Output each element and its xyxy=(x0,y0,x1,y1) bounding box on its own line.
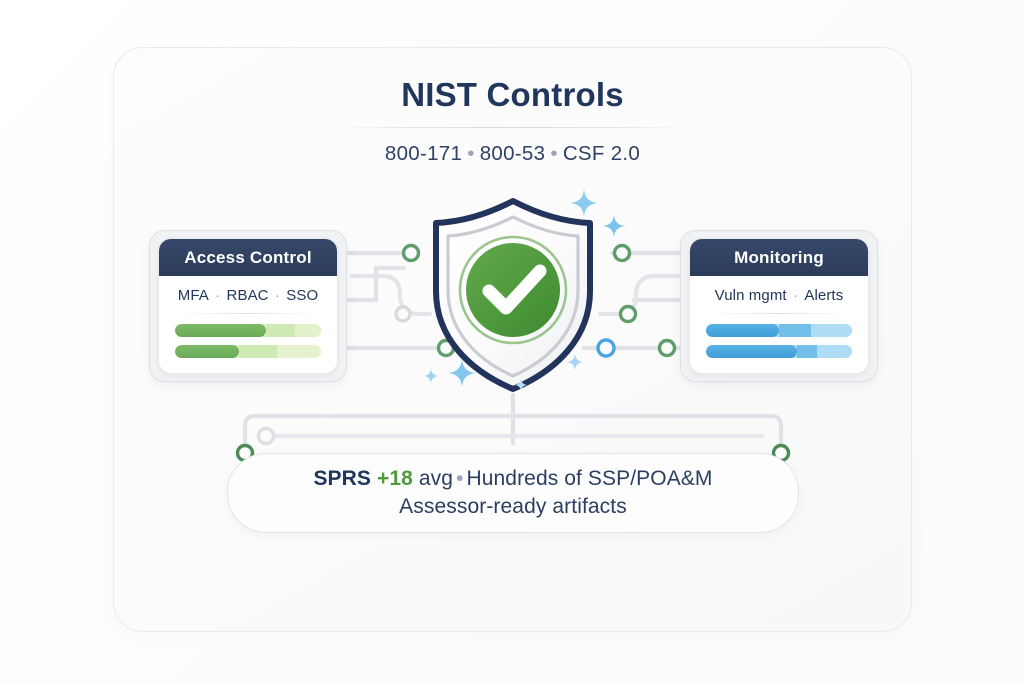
badge-circle xyxy=(466,243,560,337)
node-green-right-bottom xyxy=(660,341,675,356)
sprs-unit: avg xyxy=(419,467,453,490)
connector-curve-left xyxy=(352,276,430,314)
illustration-canvas: NIST Controls 800-171•800-53•CSF 2.0 xyxy=(0,0,1024,683)
progress-mid xyxy=(239,345,277,358)
sparkle-icon xyxy=(423,368,439,384)
progress-fill xyxy=(706,345,797,358)
connector-line-left-mid xyxy=(346,268,404,300)
node-green-right-top xyxy=(615,246,630,261)
sparkle-icon xyxy=(602,214,626,238)
card-tag-sso: SSO xyxy=(286,287,318,304)
summary-pill[interactable]: SPRS +18 avg•Hundreds of SSP/POA&M Asses… xyxy=(227,453,799,533)
progress-track xyxy=(295,324,321,337)
card-tag-alerts: Alerts xyxy=(804,287,843,304)
progress-fill xyxy=(175,324,266,337)
progress-track xyxy=(817,345,852,358)
progress-bar-group-monitoring xyxy=(690,314,868,358)
node-gray-bracket xyxy=(259,429,274,444)
sparkle-icon xyxy=(569,188,599,218)
sparkle-icon xyxy=(566,353,584,371)
progress-bar xyxy=(706,324,852,337)
node-green-left-top xyxy=(404,246,419,261)
progress-mid xyxy=(797,345,817,358)
bullet-separator-icon: · xyxy=(787,287,805,304)
progress-bar-group-access-control xyxy=(159,314,337,358)
bullet-separator-icon: • xyxy=(453,467,466,490)
sparkle-icon xyxy=(447,358,477,388)
summary-line-1: SPRS +18 avg•Hundreds of SSP/POA&M xyxy=(313,465,712,493)
bullet-separator-icon: · xyxy=(269,287,287,304)
connector-curve-right xyxy=(600,276,680,314)
bullet-separator-icon: · xyxy=(209,287,227,304)
card-tag-rbac: RBAC xyxy=(227,287,269,304)
progress-bar xyxy=(175,324,321,337)
progress-track xyxy=(811,324,852,337)
progress-fill xyxy=(175,345,239,358)
progress-track xyxy=(277,345,321,358)
sprs-value: +18 xyxy=(377,467,413,490)
card-tag-mfa: MFA xyxy=(178,287,209,304)
card-title-access-control: Access Control xyxy=(159,239,337,276)
sparkle-icon xyxy=(514,378,528,392)
progress-mid xyxy=(266,324,295,337)
card-subtitle-access-control: MFA · RBAC · SSO xyxy=(159,287,337,304)
card-access-control[interactable]: Access Control MFA · RBAC · SSO xyxy=(158,238,338,374)
main-panel: NIST Controls 800-171•800-53•CSF 2.0 xyxy=(113,47,912,632)
progress-bar xyxy=(706,345,852,358)
summary-artifacts-count: Hundreds of SSP/POA&M xyxy=(466,467,712,490)
card-subtitle-monitoring: Vuln mgmt · Alerts xyxy=(690,287,868,304)
card-monitoring[interactable]: Monitoring Vuln mgmt · Alerts xyxy=(689,238,869,374)
progress-fill xyxy=(706,324,779,337)
sprs-label: SPRS xyxy=(313,467,371,490)
progress-bar xyxy=(175,345,321,358)
card-title-monitoring: Monitoring xyxy=(690,239,868,276)
progress-mid xyxy=(779,324,811,337)
node-green-right-mid xyxy=(621,307,636,322)
summary-line-2: Assessor-ready artifacts xyxy=(399,493,627,521)
node-gray-left xyxy=(396,307,410,321)
card-tag-vuln-mgmt: Vuln mgmt xyxy=(715,287,787,304)
